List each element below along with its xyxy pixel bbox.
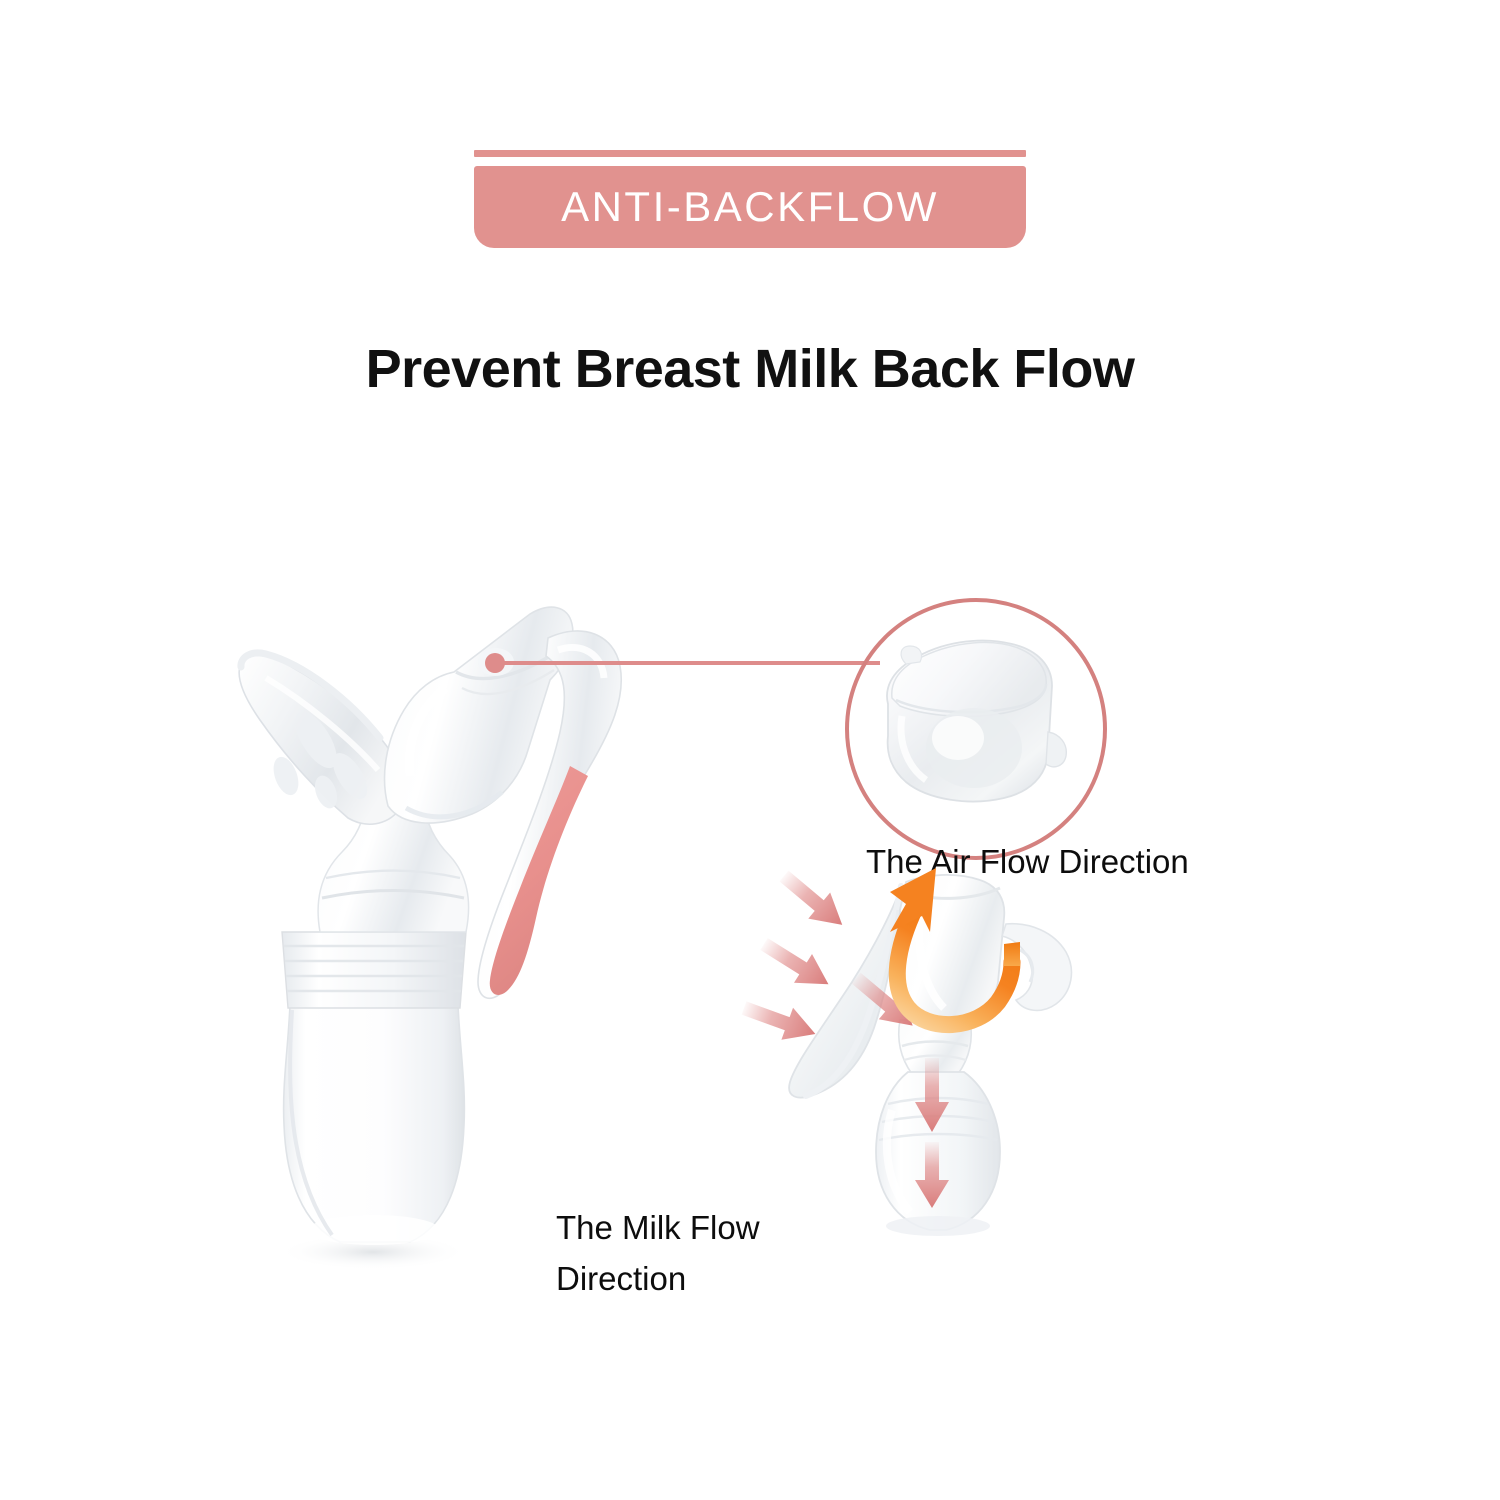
bottle-body <box>284 1005 465 1242</box>
flow-diagram-illustration <box>730 870 1150 1270</box>
anti-backflow-valve-illustration <box>862 620 1092 830</box>
valve-membrane-highlight <box>932 716 984 760</box>
valve-side-tab <box>1046 732 1066 767</box>
infographic-page: ANTI-BACKFLOW Prevent Breast Milk Back F… <box>0 0 1500 1500</box>
bottle-collar <box>282 932 466 1008</box>
anti-backflow-badge-group: ANTI-BACKFLOW <box>474 150 1026 248</box>
badge-label: ANTI-BACKFLOW <box>561 183 939 231</box>
page-title: Prevent Breast Milk Back Flow <box>0 338 1500 400</box>
milk-flow-direction-label: The Milk Flow Direction <box>556 1202 760 1304</box>
air-flow-tail <box>1004 942 1020 966</box>
anti-backflow-badge: ANTI-BACKFLOW <box>474 166 1026 248</box>
arrow-pink-1 <box>773 863 853 938</box>
callout-leader-line <box>500 661 880 665</box>
callout-leader-dot <box>485 653 505 673</box>
arrow-pink-3 <box>738 992 821 1050</box>
valve-left-nub <box>901 646 921 664</box>
badge-top-rule <box>474 150 1026 157</box>
manual-breast-pump-illustration <box>210 580 730 1280</box>
base-bottom-shadow <box>886 1216 990 1236</box>
arrow-pink-2 <box>755 930 837 999</box>
